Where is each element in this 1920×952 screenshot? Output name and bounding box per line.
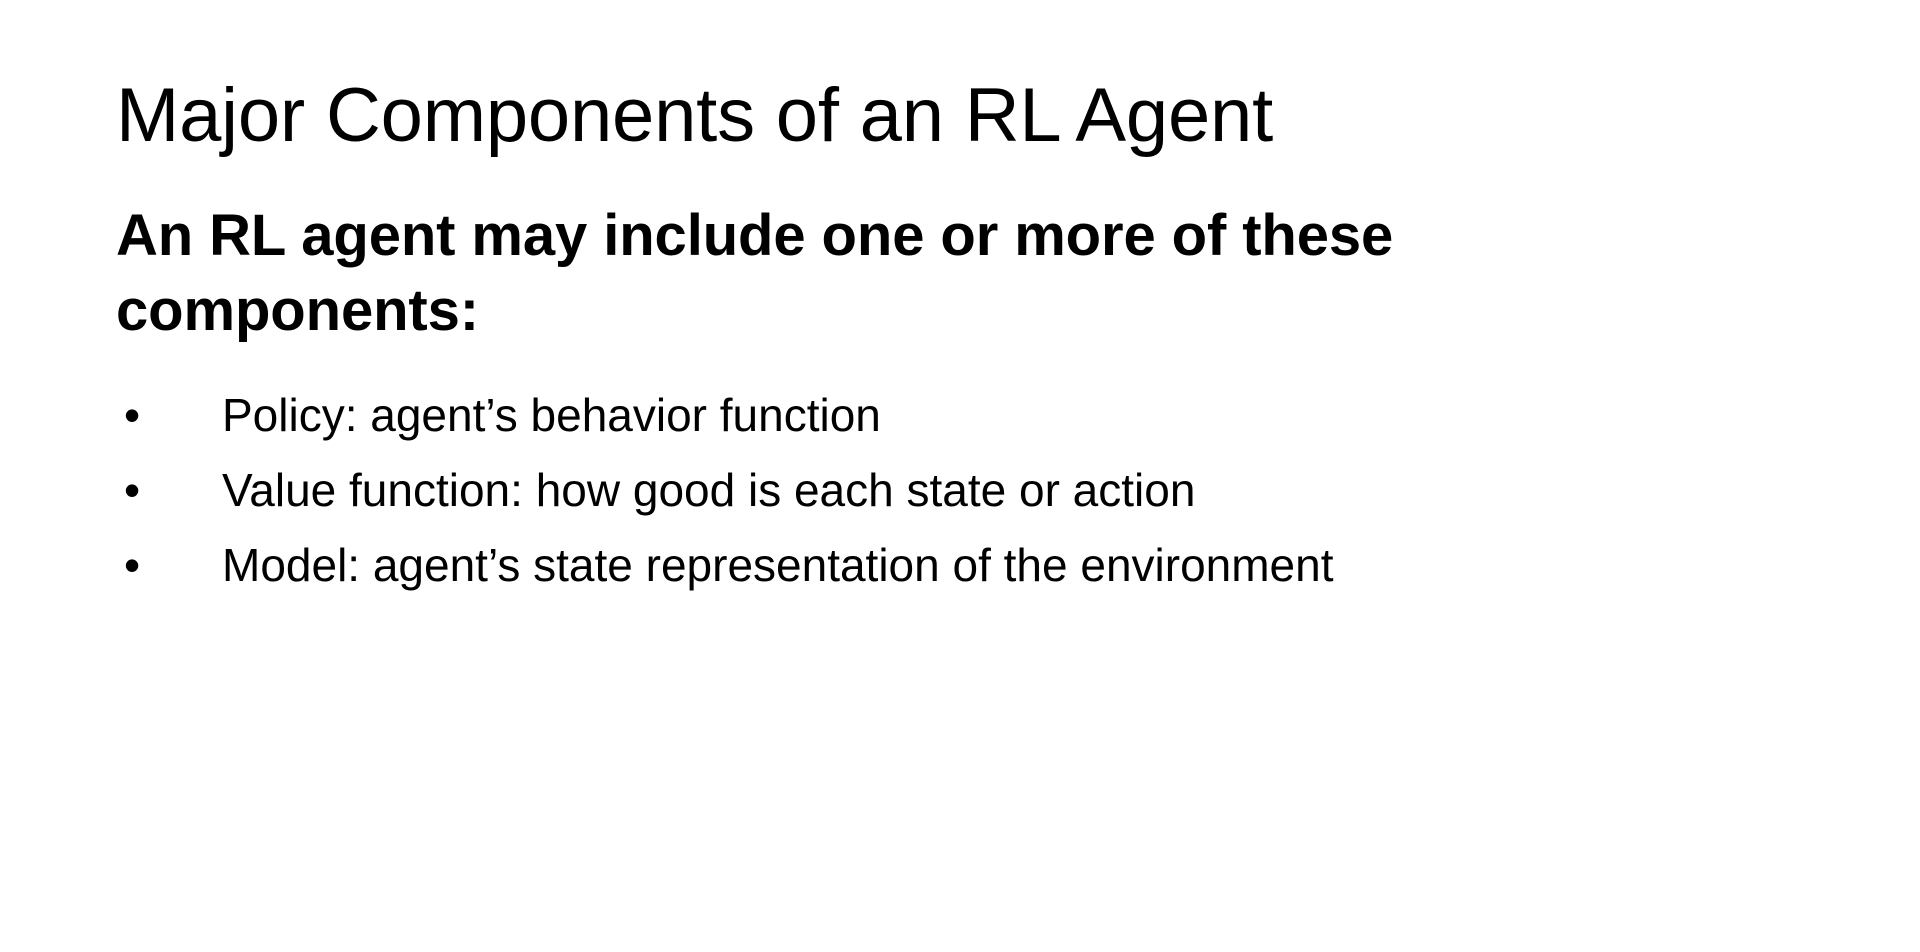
intro-paragraph: An RL agent may include one or more of t… [116, 198, 1716, 349]
slide: Major Components of an RL Agent An RL ag… [0, 0, 1920, 952]
components-bullet-list: • Policy: agent’s behavior function • Va… [116, 392, 1836, 617]
page-title: Major Components of an RL Agent [116, 73, 1816, 158]
list-item: • Model: agent’s state representation of… [116, 542, 1836, 617]
bullet-point-icon: • [124, 392, 152, 438]
bullet-point-icon: • [124, 467, 152, 513]
list-item-label: Policy: agent’s behavior function [222, 392, 881, 438]
list-item-label: Value function: how good is each state o… [222, 467, 1195, 513]
list-item: • Value function: how good is each state… [116, 467, 1836, 542]
bullet-point-icon: • [124, 542, 152, 588]
intro-line-1: An RL agent may include one or more of t… [116, 198, 1716, 273]
intro-line-2: components: [116, 273, 1716, 348]
list-item-label: Model: agent’s state representation of t… [222, 542, 1334, 588]
list-item: • Policy: agent’s behavior function [116, 392, 1836, 467]
